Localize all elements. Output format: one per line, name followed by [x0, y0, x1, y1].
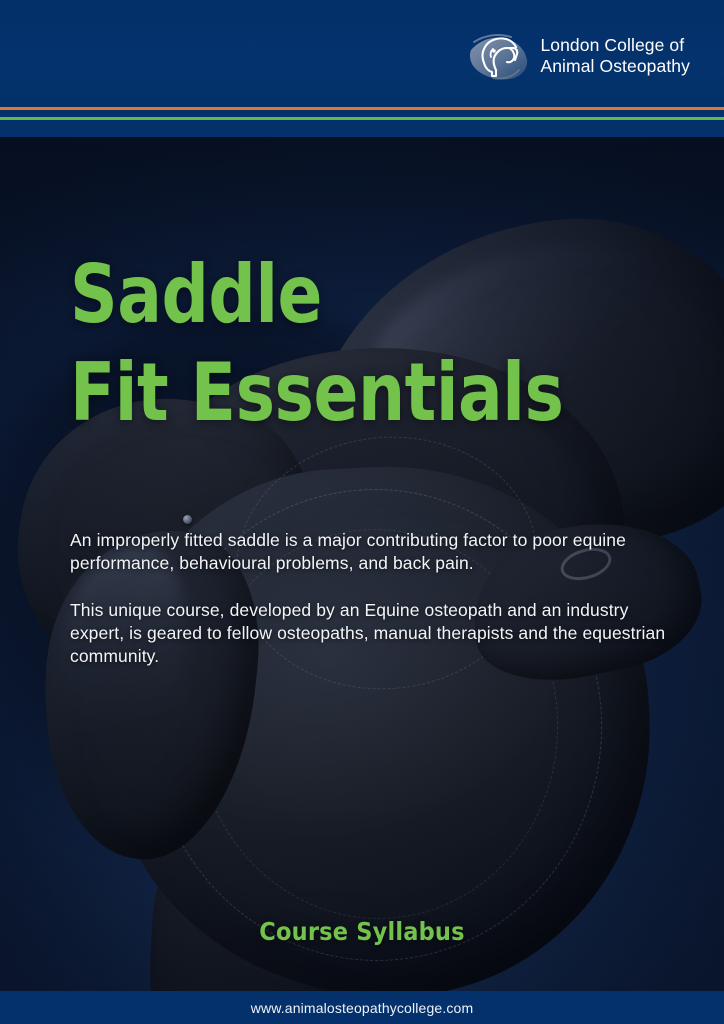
footer-bar: www.animalosteopathycollege.com: [0, 991, 724, 1024]
intro-paragraph-1: An improperly fitted saddle is a major c…: [70, 529, 666, 575]
intro-copy: An improperly fitted saddle is a major c…: [70, 529, 666, 668]
horse-head-logo-icon: [469, 30, 531, 82]
brand-logo-text: London College of Animal Osteopathy: [540, 35, 690, 77]
header-bar: London College of Animal Osteopathy: [0, 0, 724, 107]
course-syllabus-label: Course Syllabus: [0, 917, 724, 946]
brand-logo: London College of Animal Osteopathy: [469, 30, 690, 82]
brand-logo-line2: Animal Osteopathy: [540, 56, 690, 77]
brand-logo-line1: London College of: [540, 35, 690, 56]
brochure-cover-page: London College of Animal Osteopathy: [0, 0, 724, 1024]
cover-content: Saddle Fit Essentials An improperly fitt…: [0, 137, 724, 991]
footer-website-url[interactable]: www.animalosteopathycollege.com: [251, 1000, 474, 1016]
orange-accent-stripe: [0, 107, 724, 110]
intro-paragraph-2: This unique course, developed by an Equi…: [70, 599, 666, 668]
accent-stripe-band: [0, 107, 724, 137]
page-title-line2: Fit Essentials: [70, 355, 563, 431]
green-accent-stripe: [0, 117, 724, 120]
page-title: Saddle Fit Essentials: [70, 257, 563, 431]
page-title-line1: Saddle: [70, 257, 563, 333]
